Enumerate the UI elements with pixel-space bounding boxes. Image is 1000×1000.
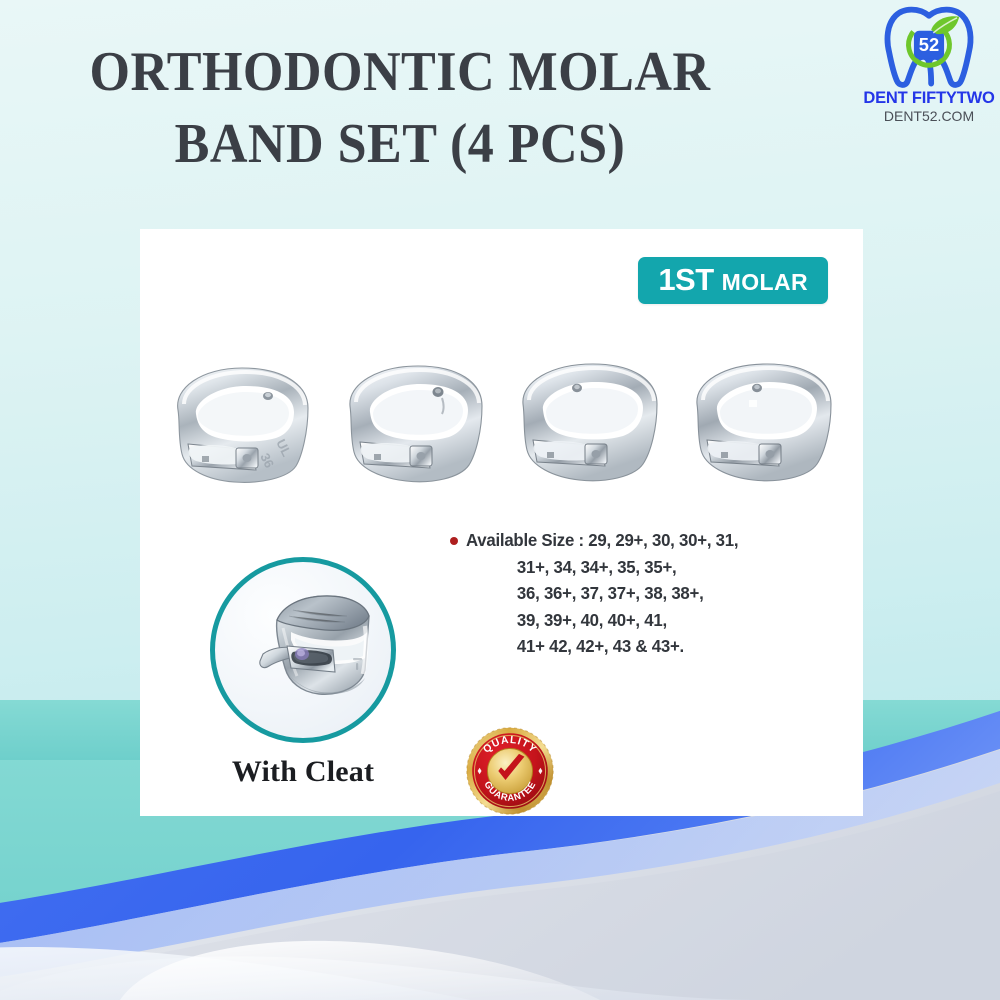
bullet-icon (450, 537, 458, 545)
molar-band-3 (505, 352, 673, 502)
poster-header: ORTHODONTIC MOLAR BAND SET (4 PCS) 52 DE… (0, 0, 1000, 200)
product-image-card: 1ST MOLAR (140, 229, 863, 816)
molar-band-cleat-closeup-icon (215, 562, 391, 738)
page-title-line-2: BAND SET (4 PCS) (65, 108, 735, 180)
page-title-line-1: ORTHODONTIC MOLAR (65, 36, 735, 108)
size-line-4: 39, 39+, 40, 40+, 41, (466, 607, 835, 634)
quality-guarantee-seal-icon: QUALITY GUARANTEE (465, 726, 555, 816)
available-size-list: Available Size : 29, 29+, 30, 30+, 31, 3… (450, 527, 850, 660)
brand-website: DENT52.COM (862, 108, 996, 125)
product-photo-row: 36 UL (148, 337, 855, 502)
badge-ordinal: 1ST (658, 264, 713, 295)
size-line-2: 31+, 34, 34+, 35, 35+, (466, 554, 835, 581)
page-title: ORTHODONTIC MOLAR BAND SET (4 PCS) (40, 36, 760, 180)
molar-band-icon (330, 352, 498, 502)
cleat-feature-block: With Cleat (203, 557, 403, 789)
tooth-leaf-52-icon: 52 (862, 6, 996, 90)
molar-band-2 (330, 352, 498, 502)
size-line-5: 41+ 42, 42+, 43 & 43+. (466, 633, 835, 660)
size-line-1: Available Size : 29, 29+, 30, 30+, 31, (466, 527, 835, 554)
cleat-closeup-circle (210, 557, 396, 743)
badge-tooth-label: MOLAR (722, 271, 808, 294)
brand-logo[interactable]: 52 DENT FIFTYTWO DENT52.COM (862, 6, 996, 130)
logo-badge-number: 52 (919, 34, 939, 55)
status-badge: 1ST MOLAR (638, 257, 828, 304)
size-line-3: 36, 36+, 37, 37+, 38, 38+, (466, 580, 835, 607)
molar-band-4 (679, 352, 847, 502)
molar-band-icon: 36 UL (156, 352, 324, 502)
molar-band-icon (679, 352, 847, 502)
quality-guarantee-badge: QUALITY GUARANTEE (465, 726, 555, 816)
molar-band-icon (505, 352, 673, 502)
brand-name: DENT FIFTYTWO (862, 89, 996, 108)
molar-band-1: 36 UL (156, 352, 324, 502)
product-poster: ORTHODONTIC MOLAR BAND SET (4 PCS) 52 DE… (0, 0, 1000, 1000)
cleat-caption: With Cleat (203, 755, 403, 789)
